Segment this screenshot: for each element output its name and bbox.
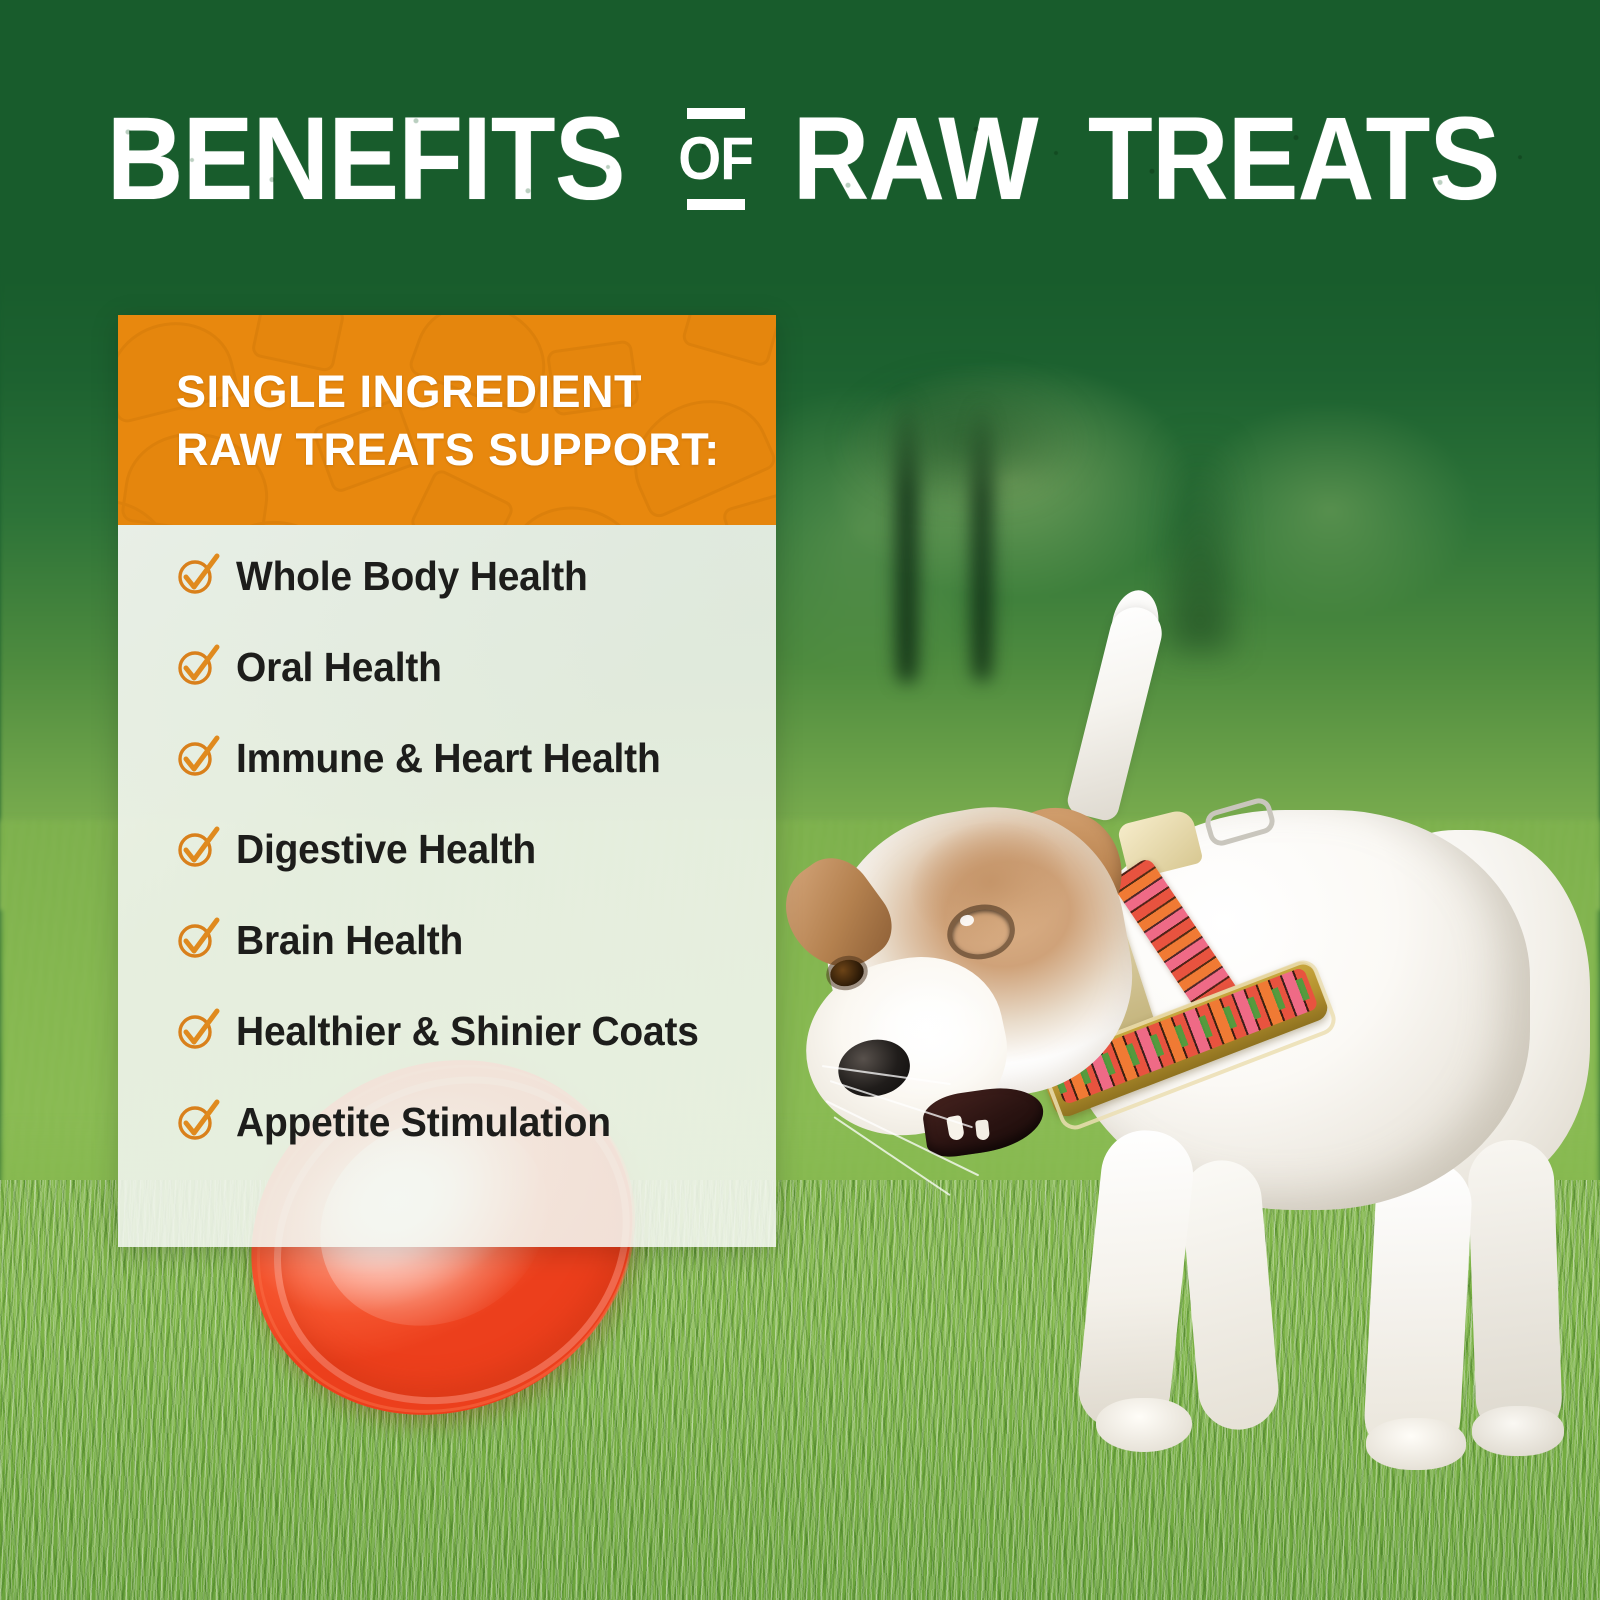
harness-leash-ring — [1202, 795, 1277, 848]
benefit-label: Whole Body Health — [236, 553, 588, 600]
title-of-rule-bottom — [687, 199, 745, 210]
tree-crown-blur — [840, 370, 1090, 500]
check-circle-icon — [176, 648, 216, 688]
card-header-line-2: RAW TREATS SUPPORT: — [176, 424, 720, 475]
benefits-list: Whole Body Health Oral Health — [118, 531, 776, 1168]
card-header: SINGLE INGREDIENT RAW TREATS SUPPORT: — [118, 315, 776, 525]
benefit-label: Oral Health — [236, 644, 442, 691]
check-circle-icon — [176, 739, 216, 779]
treat-chunk-shape — [721, 486, 776, 525]
check-circle-icon — [176, 1012, 216, 1052]
dog-photo-subject — [760, 560, 1600, 1490]
benefit-item: Whole Body Health — [118, 531, 776, 622]
title-word-treats: TREATS — [1088, 100, 1500, 218]
benefit-label: Healthier & Shinier Coats — [236, 1008, 699, 1055]
title-of-rule-top — [687, 108, 745, 119]
dog-back-right-leg — [1467, 1139, 1563, 1442]
treat-wedge-shape — [505, 496, 648, 525]
dog-front-left-leg — [1075, 1126, 1198, 1434]
card-body: Whole Body Health Oral Health — [118, 525, 776, 1247]
benefit-item: Healthier & Shinier Coats — [118, 986, 776, 1077]
dog-paw-back-right — [1472, 1406, 1564, 1456]
benefit-item: Brain Health — [118, 895, 776, 986]
check-circle-icon — [176, 921, 216, 961]
benefits-card: SINGLE INGREDIENT RAW TREATS SUPPORT: Wh… — [118, 315, 776, 1247]
dog-tail — [1065, 602, 1167, 823]
dog-paw-back-left — [1366, 1418, 1466, 1470]
benefit-item: Appetite Stimulation — [118, 1077, 776, 1168]
card-header-line-1: SINGLE INGREDIENT — [176, 366, 642, 417]
benefit-label: Brain Health — [236, 917, 463, 964]
benefit-item: Digestive Health — [118, 804, 776, 895]
dog-tooth-lower — [975, 1119, 990, 1140]
benefit-label: Digestive Health — [236, 826, 536, 873]
benefit-item: Immune & Heart Health — [118, 713, 776, 804]
title-word-raw: RAW — [792, 100, 1037, 218]
benefit-label: Appetite Stimulation — [236, 1099, 611, 1146]
benefit-item: Oral Health — [118, 622, 776, 713]
check-circle-icon — [176, 830, 216, 870]
title-word-benefits: BENEFITS — [107, 100, 625, 218]
dog-paw-front — [1096, 1398, 1192, 1452]
check-circle-icon — [176, 557, 216, 597]
title-word-of: OF — [675, 108, 756, 210]
poster-canvas: BENEFITS OF RAW TREATS — [0, 0, 1600, 1600]
dog-back-left-leg — [1362, 1158, 1474, 1463]
title-of-text: OF — [679, 129, 754, 189]
card-header-title: SINGLE INGREDIENT RAW TREATS SUPPORT: — [118, 315, 776, 478]
page-title: BENEFITS OF RAW TREATS — [0, 100, 1600, 218]
benefit-label: Immune & Heart Health — [236, 735, 661, 782]
check-circle-icon — [176, 1103, 216, 1143]
